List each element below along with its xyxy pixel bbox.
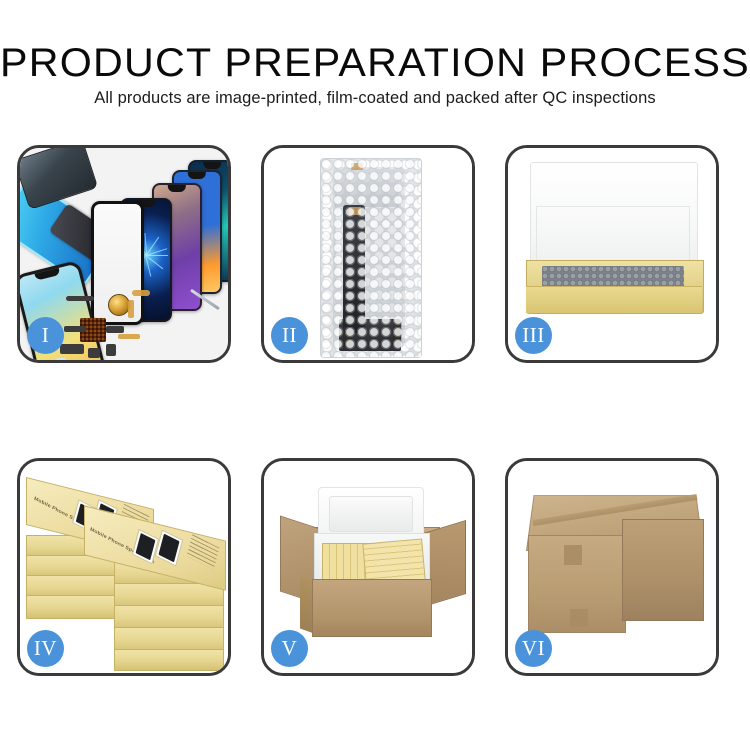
stacked-box-edge: [26, 595, 120, 619]
page-title: PRODUCT PREPARATION PROCESS: [0, 42, 750, 84]
process-step-panel-5: V: [261, 458, 475, 676]
phone-notch-icon: [34, 268, 60, 281]
crack-pattern-icon: [146, 255, 147, 256]
flex-cable-part: [128, 300, 134, 318]
carton-right-face: [622, 519, 704, 621]
box-photo-b2: [155, 529, 183, 566]
phone-notch-icon: [168, 185, 186, 192]
tape-strip: [349, 207, 361, 215]
phone-back-housing: [17, 145, 98, 210]
screen-assembly: [343, 205, 365, 333]
step-badge-5: V: [271, 630, 308, 667]
step-badge-4: IV: [27, 630, 64, 667]
process-step-panel-6: VI: [505, 458, 719, 676]
process-step-panel-4: Mobile Phone Spare Parts Mobile Phone Sp…: [17, 458, 231, 676]
carton-tape-lower: [570, 609, 588, 627]
speaker-coil-part: [108, 294, 130, 316]
step-badge-3: III: [515, 317, 552, 354]
carton-front-wall: [312, 579, 432, 637]
connector-part: [60, 344, 84, 354]
flex-cable-part: [132, 290, 150, 296]
process-step-panel-1: I: [17, 145, 231, 363]
process-step-panel-2: II: [261, 145, 475, 363]
shield-can-part: [106, 326, 124, 333]
vibrator-part: [106, 344, 116, 356]
bubble-wrap-bag: [320, 158, 422, 358]
tape-strip: [351, 163, 363, 170]
page-header: PRODUCT PREPARATION PROCESS All products…: [0, 0, 750, 130]
phone-notch-icon: [188, 172, 206, 179]
yellow-box-front-face: [526, 286, 702, 313]
box-spec-lines-b: [187, 534, 220, 569]
screen-bottom-section: [339, 319, 401, 351]
antenna-part: [64, 326, 86, 332]
step-badge-6: VI: [515, 630, 552, 667]
step-badge-2: II: [271, 317, 308, 354]
carton-tape-upper: [564, 545, 582, 565]
stacked-box-edge: [114, 649, 224, 671]
flex-cable-part: [118, 334, 140, 339]
page-subtitle: All products are image-printed, film-coa…: [0, 88, 750, 108]
screen-upper-section: [335, 173, 399, 207]
battery-part: [56, 358, 66, 363]
process-step-grid: I II III: [17, 145, 733, 676]
phone-notch-icon: [203, 162, 221, 169]
camera-module-part: [88, 348, 100, 358]
step-badge-1: I: [27, 317, 64, 354]
process-step-panel-3: III: [505, 145, 719, 363]
earpiece-mesh-part: [66, 296, 94, 301]
